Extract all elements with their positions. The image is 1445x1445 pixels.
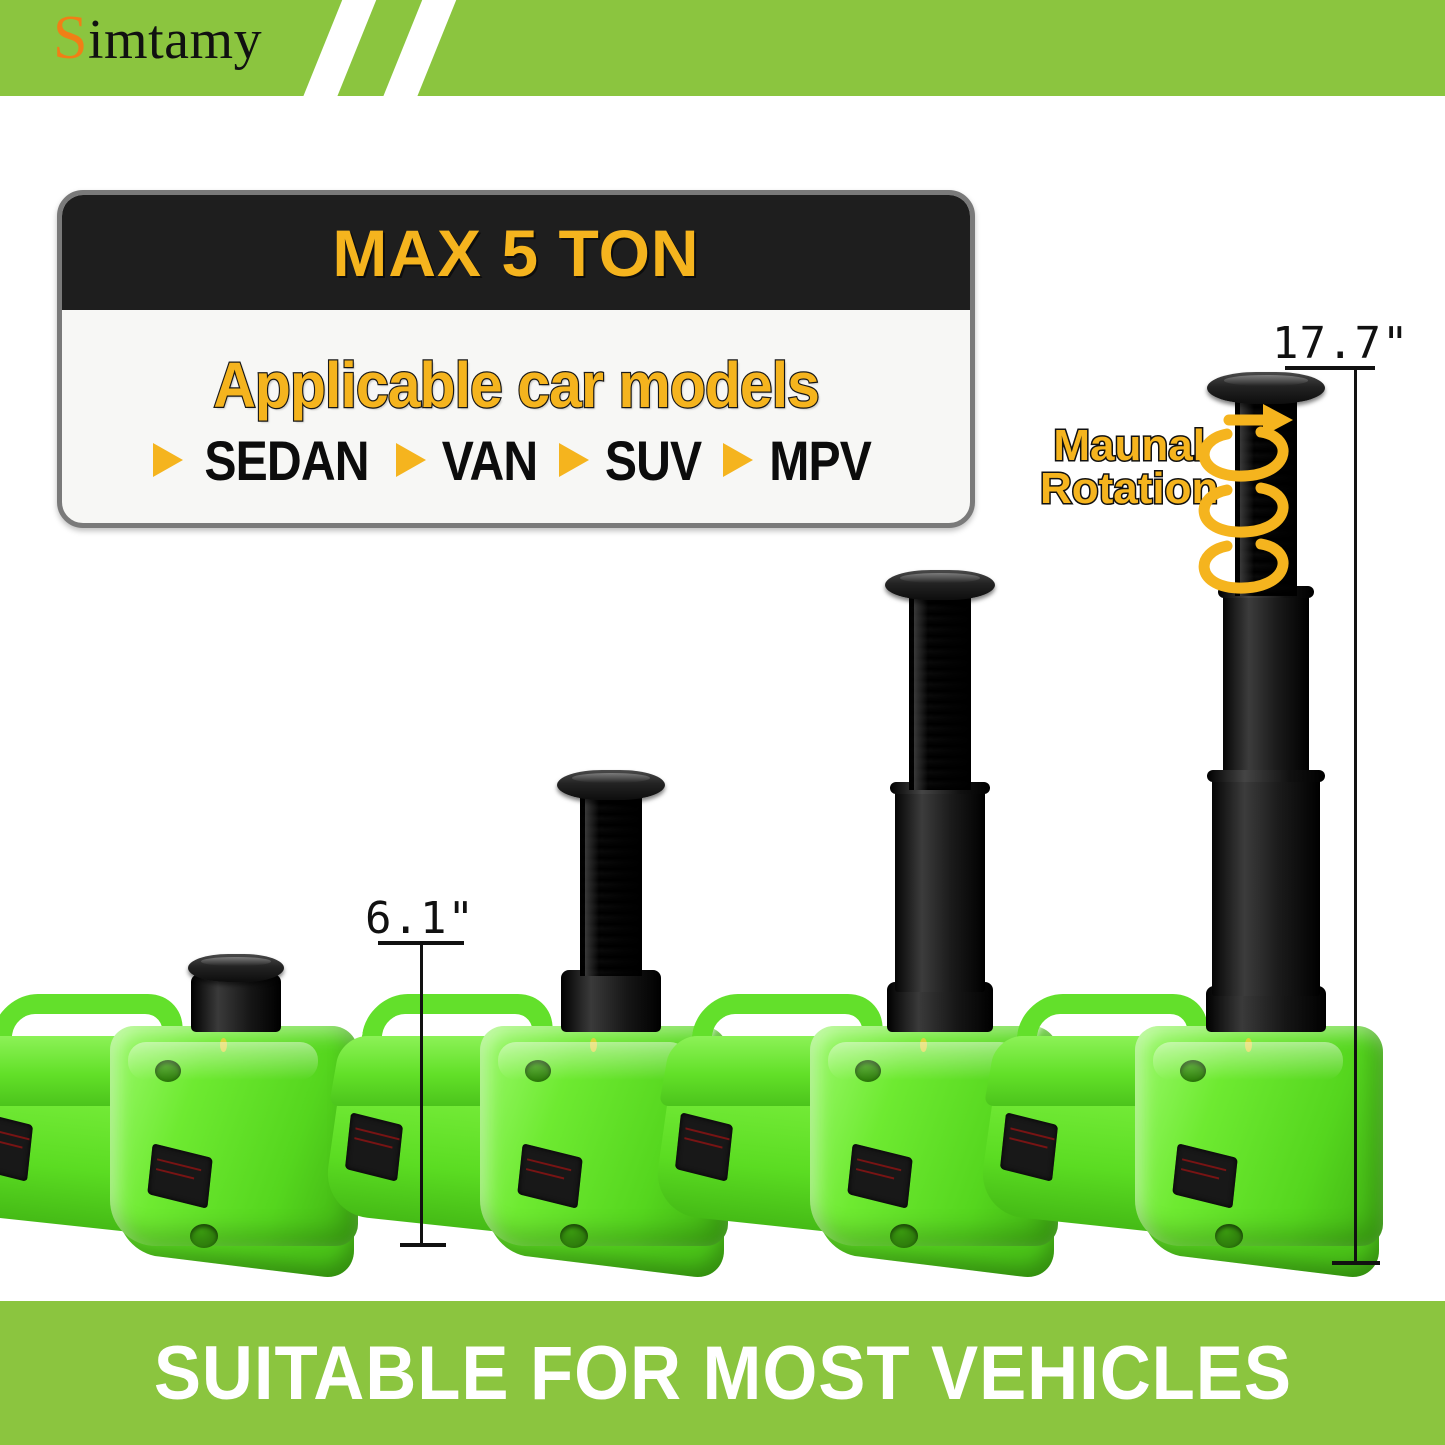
brand-logo-rest: imtamy: [88, 9, 262, 71]
header-stripe-1: [286, 0, 389, 96]
label-text-line: [526, 1168, 564, 1179]
telescoping-cylinder-stage-2: [1212, 770, 1320, 996]
saddle-cap-icon: [1207, 372, 1325, 404]
bolt-hole-icon: [560, 1224, 588, 1248]
bolt-hole-icon: [1180, 1060, 1206, 1082]
max-height-tick-bottom: [1332, 1261, 1380, 1265]
brand-header-bar: Simtamy: [0, 0, 1445, 96]
label-text-line: [354, 1137, 392, 1148]
model-label: MPV: [769, 428, 871, 493]
max-height-label: 17.7": [1272, 318, 1409, 369]
lift-column-retracted: [176, 954, 296, 1032]
manual-rotation-callout: Maunal Rotation: [1040, 424, 1218, 510]
label-text-line: [0, 1127, 30, 1140]
product-jack-fully-extended: [985, 270, 1385, 1270]
model-label: SEDAN: [204, 428, 368, 493]
model-item-van: VAN: [396, 428, 545, 493]
brand-logo: Simtamy: [53, 7, 262, 69]
brand-logo-capital: S: [53, 4, 88, 72]
feature-banner: MAX 5 TON Applicable car models SEDAN VA…: [57, 190, 975, 528]
footer-banner: SUITABLE FOR MOST VEHICLES: [0, 1301, 1445, 1445]
telescoping-cylinder-stage-1: [895, 782, 985, 992]
arrow-right-icon: [559, 443, 589, 477]
highlight-dot: [920, 1038, 927, 1052]
label-text-line: [1181, 1168, 1219, 1179]
label-text-line: [156, 1168, 194, 1179]
threaded-screw-shaft: [909, 596, 971, 790]
bolt-hole-icon: [525, 1060, 551, 1082]
model-label: SUV: [605, 428, 701, 493]
threaded-screw-shaft: [580, 796, 642, 976]
bolt-hole-icon: [190, 1224, 218, 1248]
model-item-sedan: SEDAN: [153, 428, 382, 493]
arrow-right-icon: [153, 443, 183, 477]
saddle-cap-icon: [557, 770, 665, 800]
label-text-line: [856, 1168, 894, 1179]
manual-rotation-line-1: Maunal: [1040, 424, 1218, 467]
bolt-hole-icon: [855, 1060, 881, 1082]
bolt-hole-icon: [1215, 1224, 1243, 1248]
manual-rotation-line-2: Rotation: [1040, 467, 1218, 510]
telescoping-cylinder-stage-1: [1223, 586, 1309, 776]
label-text-line: [684, 1137, 722, 1148]
feature-banner-header: MAX 5 TON: [62, 195, 970, 310]
threaded-screw-shaft: [1235, 400, 1297, 596]
model-item-suv: SUV: [559, 428, 709, 493]
housing-main-body: [1135, 1026, 1383, 1246]
footer-tagline: SUITABLE FOR MOST VEHICLES: [153, 1330, 1291, 1417]
max-capacity-title: MAX 5 TON: [332, 215, 699, 291]
bolt-hole-icon: [155, 1060, 181, 1082]
highlight-dot: [590, 1038, 597, 1052]
arrow-right-icon: [396, 443, 426, 477]
feature-banner-body: Applicable car models SEDAN VAN SUV MPV: [62, 310, 970, 526]
saddle-cap-icon: [885, 570, 995, 600]
max-height-dimension-line: [1354, 366, 1357, 1264]
arrow-right-icon: [723, 443, 753, 477]
applicable-models-heading: Applicable car models: [213, 348, 819, 422]
product-jack-retracted: [0, 970, 360, 1270]
applicable-models-list: SEDAN VAN SUV MPV: [153, 428, 880, 493]
product-image-canvas: Simtamy MAX 5 TON Applicable car models …: [0, 0, 1445, 1445]
label-text-line: [1009, 1137, 1047, 1148]
jack-housing: [0, 990, 360, 1270]
highlight-dot: [220, 1038, 227, 1052]
max-height-tick-top: [1285, 366, 1375, 370]
header-stripe-2: [366, 0, 469, 96]
model-item-mpv: MPV: [723, 428, 879, 493]
column-base-ring: [561, 970, 661, 1032]
housing-main-body: [110, 1026, 358, 1246]
min-height-label: 6.1": [365, 893, 475, 944]
cylinder-lip: [1207, 770, 1325, 782]
lift-column-screw-extended: [546, 770, 676, 1032]
min-height-tick-bottom: [400, 1243, 446, 1247]
model-label: VAN: [441, 428, 537, 493]
highlight-dot: [1245, 1038, 1252, 1052]
column-base-ring: [191, 974, 281, 1032]
saddle-cap-icon: [188, 954, 284, 982]
jack-housing: [985, 990, 1385, 1270]
label-text-line: [0, 1137, 23, 1148]
min-height-dimension-line: [420, 941, 423, 1246]
bolt-hole-icon: [890, 1224, 918, 1248]
